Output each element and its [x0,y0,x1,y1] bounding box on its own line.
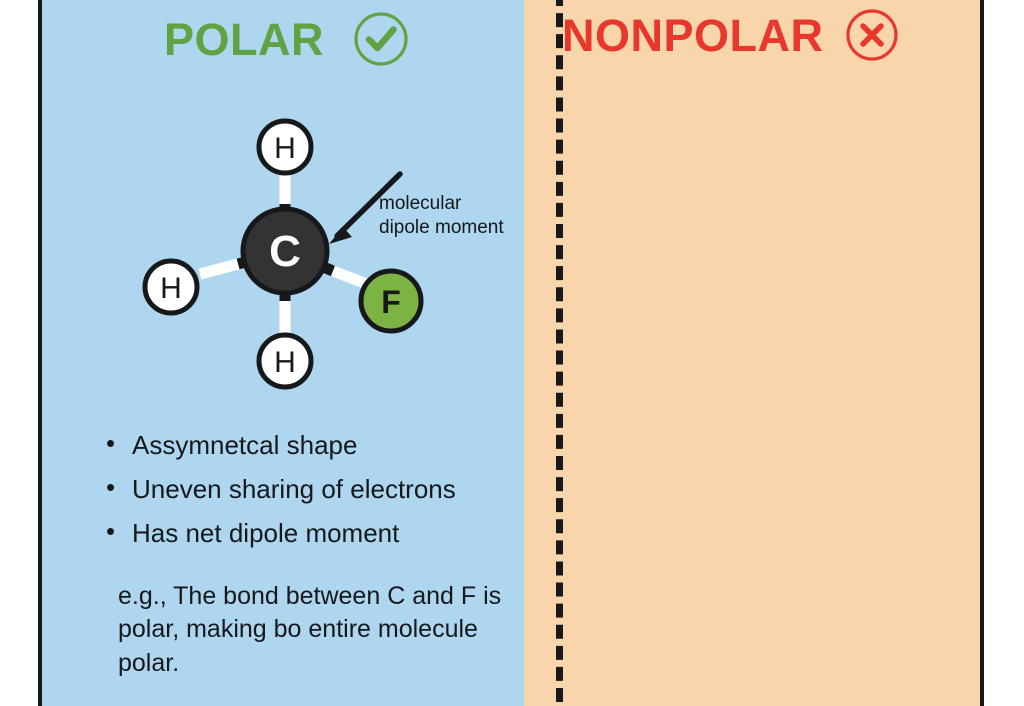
comparison-infographic: POLAR [0,0,1024,702]
atom-c-center: C [243,209,327,293]
polarity-comparison-card: POLAR [38,0,984,706]
dipole-annotation-line2: dipole moment [379,216,524,240]
panel-divider [556,0,563,702]
polar-header: POLAR [164,10,410,68]
polar-example-text: e.g., The bond between C and F is polar,… [118,580,524,680]
atom-h-top: H [259,121,311,173]
svg-text:C: C [269,227,301,276]
list-item: Uneven sharing of electrons [102,476,524,502]
dipole-annotation-line1: molecular [379,192,524,216]
nonpolar-panel: NONPOLAR [524,0,980,706]
svg-text:H: H [160,272,182,305]
nonpolar-header: NONPOLAR [562,7,900,63]
list-item: Assymnetcal shape [102,432,524,458]
polar-bullet-list: Assymnetcal shape Uneven sharing of elec… [102,432,524,564]
check-circle-icon [352,10,410,68]
polar-molecule-figure: H H H F C [100,96,524,396]
list-item: Has net dipole moment [102,520,524,546]
bond-c-h-left-light [200,264,238,274]
svg-text:H: H [274,132,296,165]
dipole-annotation: molecular dipole moment [379,192,524,240]
atom-f-right: F [361,271,421,331]
atom-h-bottom: H [259,335,311,387]
svg-text:H: H [274,346,296,379]
atom-h-left: H [145,261,197,313]
nonpolar-title: NONPOLAR [562,13,824,58]
polar-panel: POLAR [42,0,524,706]
svg-text:F: F [381,284,401,320]
x-circle-icon [844,7,900,63]
polar-title: POLAR [164,17,324,62]
